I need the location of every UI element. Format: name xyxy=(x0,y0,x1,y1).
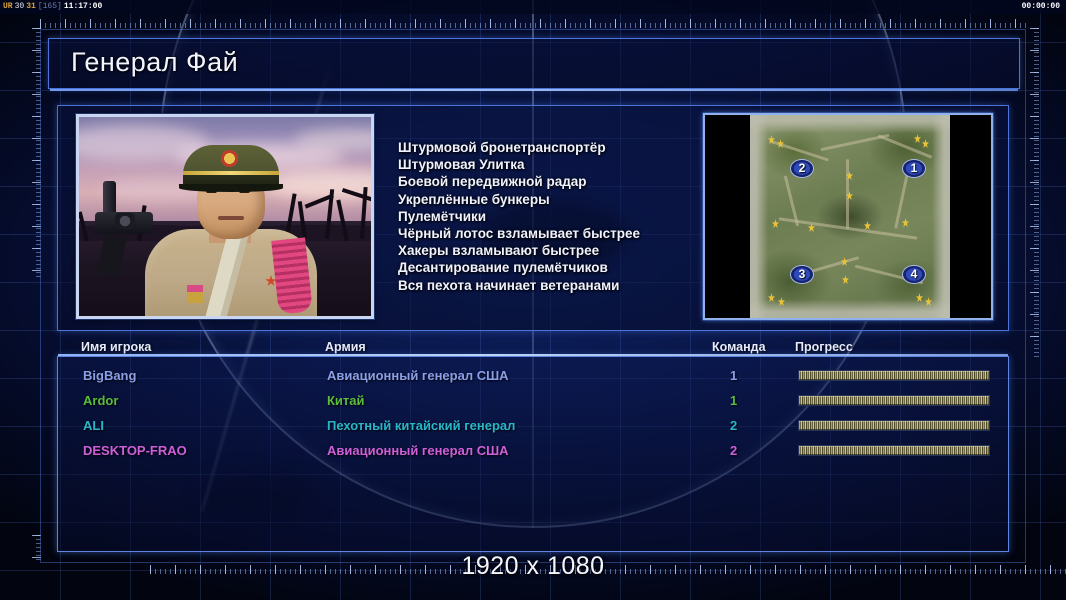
map-start-position-3[interactable]: 3 xyxy=(790,265,814,284)
officer-cap-brim xyxy=(179,184,283,192)
player-progress-fill xyxy=(799,396,989,405)
player-team: 2 xyxy=(730,418,737,433)
table-row[interactable]: BigBangАвиационный генерал США1 xyxy=(58,365,1010,390)
session-clock: 11:17:00 xyxy=(63,2,103,11)
right-clock: 00:00:00 xyxy=(1022,0,1060,14)
title-panel: Генерал Фай xyxy=(48,38,1020,89)
table-row[interactable]: ArdorКитай1 xyxy=(58,390,1010,415)
general-info-panel: Штурмовой бронетранспортёр Штурмовая Ули… xyxy=(57,105,1009,331)
ability-item: Боевой передвижной радар xyxy=(398,173,688,190)
ability-item: Штурмовая Улитка xyxy=(398,156,688,173)
player-team: 1 xyxy=(730,393,737,408)
column-header-team: Команда xyxy=(712,340,766,354)
ability-item: Десантирование пулемётчиков xyxy=(398,259,688,276)
player-army: Авиационный генерал США xyxy=(327,368,509,383)
map-start-position-2[interactable]: 2 xyxy=(790,159,814,178)
column-header-player-name: Имя игрока xyxy=(81,340,151,354)
player-progress-bar xyxy=(798,370,990,381)
player-team: 2 xyxy=(730,443,737,458)
column-header-army: Армия xyxy=(325,340,366,354)
map-start-position-1[interactable]: 1 xyxy=(902,159,926,178)
general-portrait xyxy=(76,114,374,319)
column-header-progress: Прогресс xyxy=(795,340,853,354)
player-army: Пехотный китайский генерал xyxy=(327,418,515,433)
player-progress-fill xyxy=(799,446,989,455)
player-name: BigBang xyxy=(83,368,136,383)
officer-cap-emblem xyxy=(221,150,238,167)
ruler-right xyxy=(1030,28,1039,358)
ability-item: Штурмовой бронетранспортёр xyxy=(398,139,688,156)
player-army: Авиационный генерал США xyxy=(327,443,509,458)
player-team: 1 xyxy=(730,368,737,383)
ability-item: Хакеры взламывают быстрее xyxy=(398,242,688,259)
top-status-bar: UR3031[165]11:17:00 00:00:00 xyxy=(0,0,1066,14)
fps-label: UR xyxy=(2,2,14,11)
general-ability-list: Штурмовой бронетранспортёр Штурмовая Ули… xyxy=(398,139,688,294)
table-row[interactable]: ALIПехотный китайский генерал2 xyxy=(58,415,1010,440)
player-progress-fill xyxy=(799,371,989,380)
minimap-terrain: 1234 xyxy=(750,115,950,318)
ability-item: Вся пехота начинает ветеранами xyxy=(398,277,688,294)
player-name: Ardor xyxy=(83,393,118,408)
player-name: DESKTOP-FRAO xyxy=(83,443,187,458)
resolution-label: 1920 x 1080 xyxy=(0,552,1066,581)
player-progress-bar xyxy=(798,420,990,431)
fps-readout: UR3031[165]11:17:00 xyxy=(2,0,103,14)
minimap: 1234 xyxy=(703,113,993,320)
player-progress-bar xyxy=(798,395,990,406)
fps-value: 30 xyxy=(14,2,26,11)
table-row[interactable]: DESKTOP-FRAOАвиационный генерал США2 xyxy=(58,440,1010,465)
player-army: Китай xyxy=(327,393,365,408)
player-progress-fill xyxy=(799,421,989,430)
frame-count: [165] xyxy=(37,2,63,11)
revolver-icon xyxy=(115,213,135,229)
ruler-top xyxy=(40,19,1026,28)
player-table-panel: BigBangАвиационный генерал США1ArdorКита… xyxy=(57,356,1009,552)
player-name: ALI xyxy=(83,418,104,433)
ability-item: Укреплённые бункеры xyxy=(398,191,688,208)
ability-item: Пулемётчики xyxy=(398,208,688,225)
officer-medal xyxy=(187,285,203,303)
map-start-position-4[interactable]: 4 xyxy=(902,265,926,284)
player-progress-bar xyxy=(798,445,990,456)
fps-alt-value: 31 xyxy=(25,2,37,11)
ability-item: Чёрный лотос взламывает быстрее xyxy=(398,225,688,242)
officer-mouth xyxy=(218,216,244,220)
page-title: Генерал Фай xyxy=(71,47,238,78)
